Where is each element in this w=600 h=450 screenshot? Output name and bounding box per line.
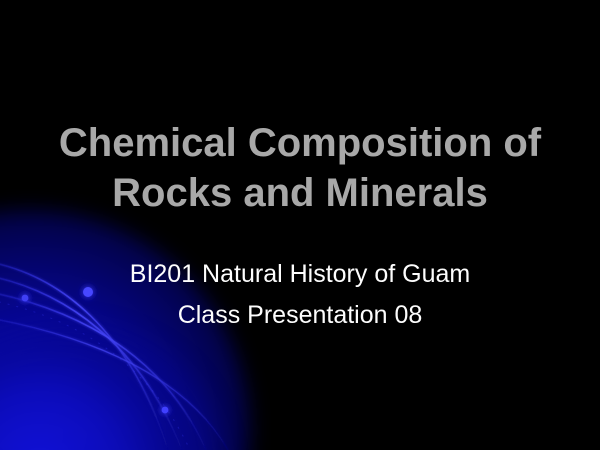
subtitle-line-1: BI201 Natural History of Guam [40,254,560,295]
subtitle-line-2: Class Presentation 08 [40,295,560,336]
slide-subtitle: BI201 Natural History of Guam Class Pres… [40,254,560,336]
slide-background-decoration [0,0,600,450]
title-line-1: Chemical Composition of [30,118,570,168]
slide-title: Chemical Composition of Rocks and Minera… [30,118,570,218]
blue-glow-core-icon [0,330,220,450]
title-line-2: Rocks and Minerals [30,168,570,218]
orbit-arcs-icon [0,0,600,450]
presentation-slide: Chemical Composition of Rocks and Minera… [0,0,600,450]
